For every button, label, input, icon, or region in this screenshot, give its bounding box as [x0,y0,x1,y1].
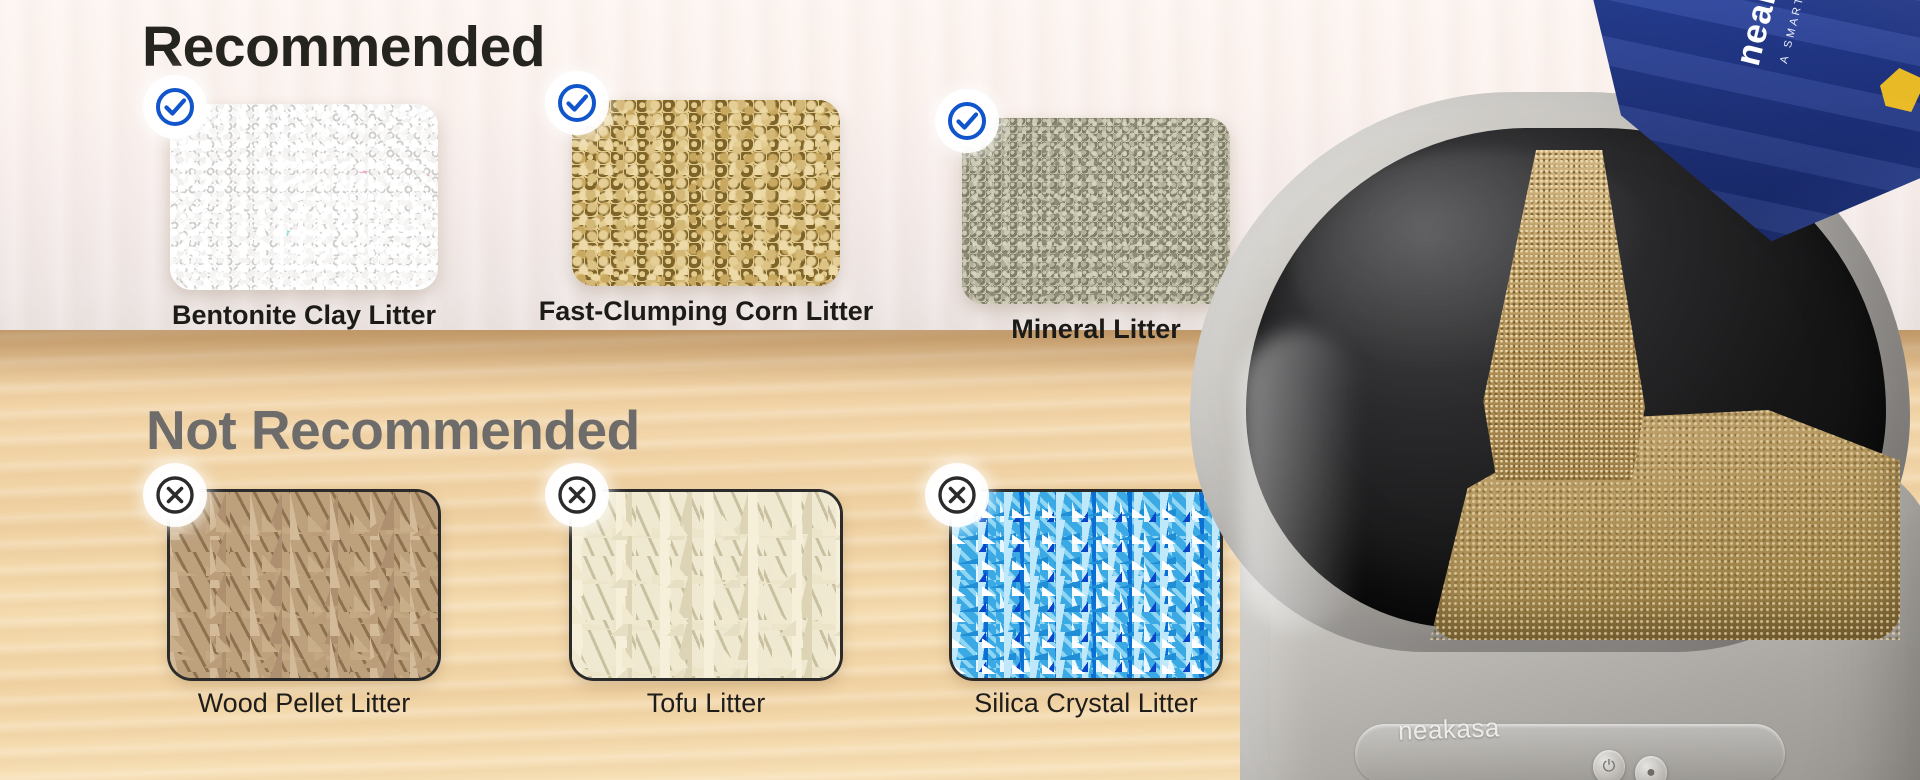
swatch-wrapper [170,492,438,678]
tofu-litter-swatch [572,492,840,678]
bentonite-texture [170,104,438,290]
wood-pellet-texture [170,492,438,678]
recommended-heading: Recommended [142,14,545,80]
bentonite-clay-litter-swatch [170,104,438,290]
litter-compatibility-infographic: Recommended Bentonite Clay Litter [0,0,1920,780]
litter-card-label: Bentonite Clay Litter [120,300,488,331]
indicator-icon: ● [1646,765,1656,780]
litter-box-rim-highlight [1240,330,1360,630]
not-recommended-heading: Not Recommended [146,398,640,462]
check-circle-icon [942,96,992,146]
litter-card-fast-clumping-corn-litter: Fast-Clumping Corn Litter [572,100,840,286]
power-button[interactable]: ⏻ [1593,750,1625,780]
litter-card-label: Fast-Clumping Corn Litter [522,296,890,327]
litter-card-tofu-litter: Tofu Litter [572,492,840,678]
x-circle-icon [932,470,982,520]
fast-clumping-corn-litter-swatch [572,100,840,286]
swatch-wrapper [572,100,840,286]
x-circle-icon [150,470,200,520]
tofu-texture [572,492,840,678]
corn-texture [572,100,840,286]
check-circle-icon [552,78,602,128]
x-circle-icon [552,470,602,520]
product-photo-scene: neakasa A SMARTER WAY TO CLEAN neakasa ⏻… [1180,0,1920,780]
litter-card-label: Wood Pellet Litter [120,688,488,719]
wood-pellet-litter-swatch [170,492,438,678]
check-circle-icon [150,82,200,132]
litter-card-bentonite-clay-litter: Bentonite Clay Litter [170,104,438,290]
litter-card-label: Tofu Litter [522,688,890,719]
swatch-wrapper [572,492,840,678]
power-icon: ⏻ [1603,759,1616,775]
swatch-wrapper [170,104,438,290]
litter-card-wood-pellet-litter: Wood Pellet Litter [170,492,438,678]
device-brand-logo: neakasa [1397,712,1500,747]
